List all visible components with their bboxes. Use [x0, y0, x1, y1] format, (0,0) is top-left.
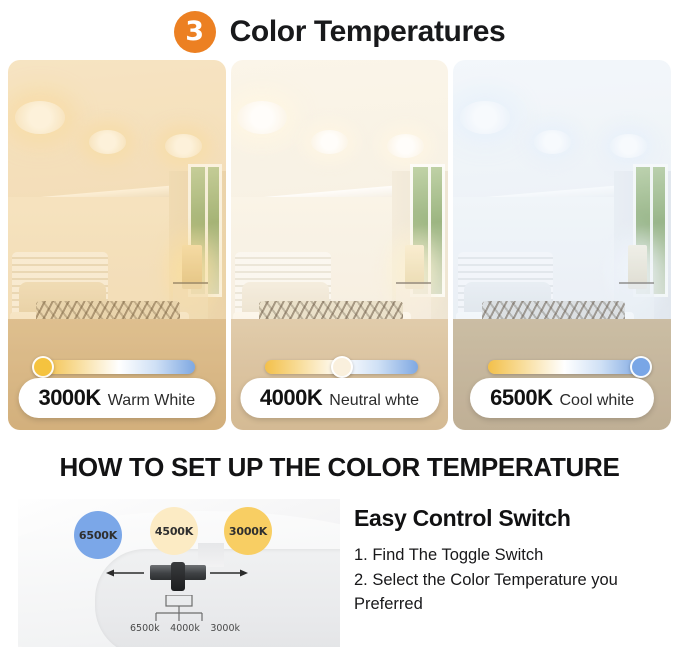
downlight-icon — [237, 101, 287, 134]
downlight-icon — [15, 101, 65, 134]
step-number-badge: 3 — [174, 11, 216, 53]
temperature-label-neutral: 4000K Neutral whte — [240, 378, 439, 418]
temperature-label-cool: 6500K Cool white — [470, 378, 654, 418]
fixture-edge — [198, 543, 224, 567]
slider-knob[interactable] — [32, 356, 54, 378]
panel-cool-white[interactable]: 6500K Cool white — [453, 60, 671, 430]
color-temp-slider-cool[interactable] — [488, 360, 640, 374]
temp-circle-6500k: 6500K — [74, 511, 122, 559]
downlight-icon — [89, 130, 126, 154]
switch-tick-labels: 6500k 4000k 3000k — [130, 623, 240, 634]
setup-section: 6500K 4500K 3000K 6500k — [0, 483, 679, 651]
kelvin-value: 3000K — [38, 385, 100, 411]
bracket-icon — [148, 595, 210, 625]
instructions-title: Easy Control Switch — [354, 505, 663, 532]
instruction-step-1: 1. Find The Toggle Switch — [354, 544, 663, 567]
toggle-lever[interactable] — [171, 562, 185, 591]
tick-label-3000k: 3000k — [210, 623, 240, 634]
color-temperature-panels: 3000K Warm White 400 — [0, 60, 679, 430]
panel-warm-white[interactable]: 3000K Warm White — [8, 60, 226, 430]
instructions-column: Easy Control Switch 1. Find The Toggle S… — [354, 499, 663, 651]
toggle-switch-group[interactable]: 6500k 4000k 3000k — [104, 565, 264, 641]
kelvin-value: 4000K — [260, 385, 322, 411]
downlight-icon — [165, 134, 202, 158]
arrow-right-icon — [210, 569, 248, 577]
slider-knob[interactable] — [331, 356, 353, 378]
setup-section-title: HOW TO SET UP THE COLOR TEMPERATURE — [0, 452, 679, 483]
color-temp-slider-warm[interactable] — [43, 360, 195, 374]
temperature-label-warm: 3000K Warm White — [18, 378, 215, 418]
color-temp-slider-neutral[interactable] — [265, 360, 417, 374]
temperature-name: Neutral whte — [329, 392, 419, 410]
slider-knob[interactable] — [630, 356, 652, 378]
temperature-name: Cool white — [559, 392, 634, 410]
instruction-step-2: 2. Select the Color Temperature you Pref… — [354, 569, 663, 616]
downlight-icon — [610, 134, 647, 158]
panel-neutral-white[interactable]: 4000K Neutral whte — [231, 60, 449, 430]
downlight-icon — [460, 101, 510, 134]
temp-circle-3000k: 3000K — [224, 507, 272, 555]
arrow-left-icon — [106, 569, 144, 577]
temperature-name: Warm White — [108, 392, 195, 410]
page-header: 3 Color Temperatures — [0, 0, 679, 60]
temp-circle-4500k: 4500K — [150, 507, 198, 555]
kelvin-value: 6500K — [490, 385, 552, 411]
switch-diagram-photo: 6500K 4500K 3000K 6500k — [18, 499, 340, 647]
tick-label-6500k: 6500k — [130, 623, 160, 634]
tick-label-4000k: 4000k — [170, 623, 200, 634]
page-title: Color Temperatures — [230, 15, 506, 49]
